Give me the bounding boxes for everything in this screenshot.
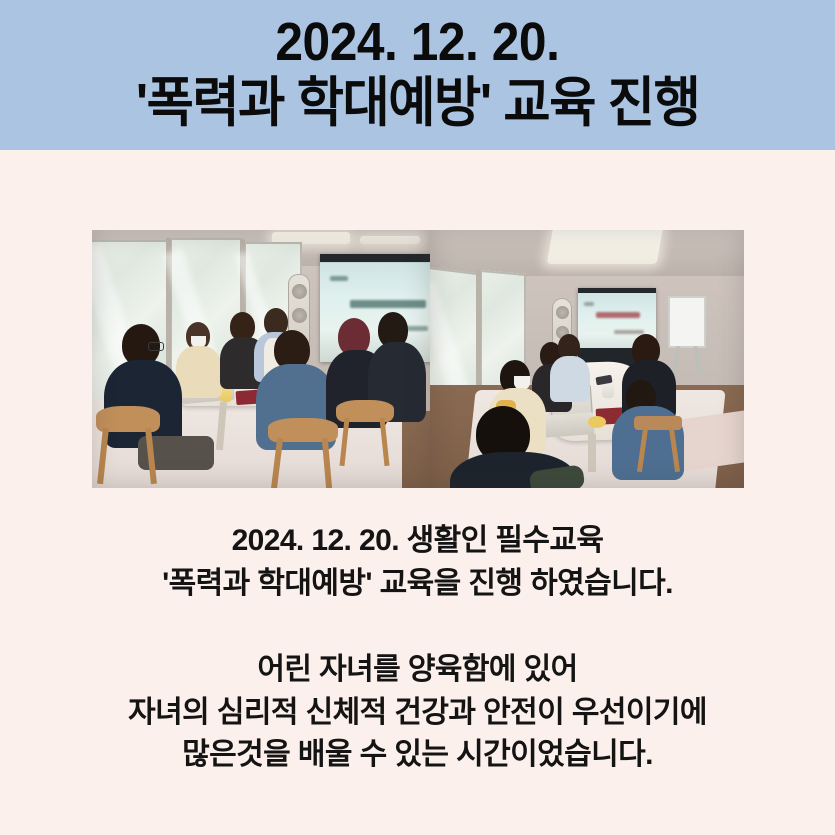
paragraph-2-line-3: 많은것을 배울 수 있는 시간이었습니다. <box>0 734 835 777</box>
slide-text-line <box>584 302 594 306</box>
body-text: 2024. 12. 20. 생활인 필수교육 '폭력과 학대예방' 교육을 진행… <box>0 520 835 777</box>
ceiling-light-icon <box>547 230 664 264</box>
air-conditioner-vent-icon <box>292 284 307 299</box>
education-session-photo-left <box>92 230 430 488</box>
eyeglasses-icon <box>148 342 164 351</box>
paragraph-2: 어린 자녀를 양육함에 있어 자녀의 심리적 신체적 건강과 안전이 우선이기에… <box>0 649 835 777</box>
torso <box>176 346 222 398</box>
torso <box>104 360 182 448</box>
header-title-line: '폭력과 학대예방' 교육 진행 <box>136 74 700 132</box>
torso <box>550 356 590 402</box>
paragraph-2-line-2: 자녀의 심리적 신체적 건강과 안전이 우선이기에 <box>0 692 835 735</box>
laptop-base <box>541 412 594 438</box>
poster-card: 2024. 12. 20. '폭력과 학대예방' 교육 진행 <box>0 0 835 835</box>
header-banner: 2024. 12. 20. '폭력과 학대예방' 교육 진행 <box>0 0 835 150</box>
table-leg <box>588 434 596 472</box>
air-conditioner-vent-icon <box>292 308 307 323</box>
paragraph-2-line-1: 어린 자녀를 양육함에 있어 <box>0 649 835 692</box>
ceiling-light-icon <box>360 236 420 244</box>
slide-text-line <box>350 300 426 308</box>
slide-text-line <box>330 276 348 281</box>
snack-bowl <box>588 416 606 428</box>
paragraph-1-line-2: '폭력과 학대예방' 교육을 진행 하였습니다. <box>0 563 835 606</box>
slide-text-line <box>614 330 644 334</box>
photo-strip <box>92 230 744 488</box>
projector-screen-bar <box>578 288 656 293</box>
projector-screen-bar <box>320 254 430 262</box>
air-conditioner-vent-icon <box>556 306 569 319</box>
education-session-photo-right <box>430 230 744 488</box>
paragraph-1: 2024. 12. 20. 생활인 필수교육 '폭력과 학대예방' 교육을 진행… <box>0 520 835 605</box>
header-date-line: 2024. 12. 20. <box>275 15 559 70</box>
chair-seat <box>634 416 682 430</box>
slide-text-line <box>596 312 640 318</box>
paragraph-1-line-1: 2024. 12. 20. 생활인 필수교육 <box>0 520 835 563</box>
whiteboard <box>668 296 706 348</box>
